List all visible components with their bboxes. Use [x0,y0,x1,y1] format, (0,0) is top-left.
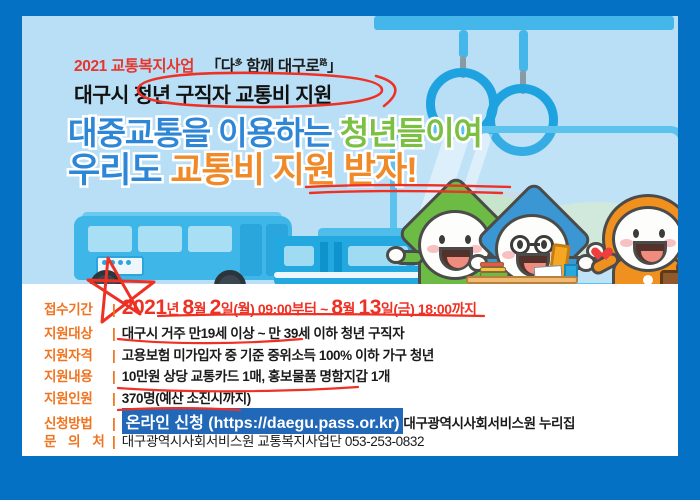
table-row: 지원내용 | 10만원 상당 교통카드 1매, 홍보물품 명함지갑 1개 [44,365,664,387]
slogan-mid: 함께 대구로 [242,58,319,75]
slogan-sup-2: 路 [319,58,327,67]
orange-mascot-head [612,206,678,272]
slogan-close: 」 [327,58,342,75]
train-door [320,242,328,276]
subtitle-line: 대구시 청년 구직자 교통비 지원 [74,78,332,108]
info-table: 접수기간 | 2021년 8월 2일(월) 09:00부터 ~ 8월 13일(금… [44,296,664,451]
row-label: 지원내용 [44,365,110,385]
table-row: 지원자격 | 고용보험 미가입자 중 기준 중위소득 100% 이하 가구 청년 [44,344,664,366]
headline-line-1: 대중교통을 이용하는 청년들이여 [68,116,538,150]
bus-window [138,226,182,252]
strap-rod [519,30,528,72]
table-row: 신청방법 | 온라인 신청 (https://daegu.pass.or.kr)… [44,408,664,430]
row-label: 문 의 처 [44,430,110,450]
program-year: 2021 교통복지사업 [74,58,194,75]
row-value: 대구광역시사회서비스원 교통복지사업단 053-253-0832 [122,430,424,450]
program-title-line: 2021 교통복지사업 「다多 함께 대구로路」 [74,54,342,76]
row-value: 370명(예산 소진시까지) [122,387,251,407]
heart-icon [598,248,612,262]
row-value: 고용보험 미가입자 중 기준 중위소득 100% 이하 가구 청년 [122,344,434,364]
train-door [334,242,342,276]
headline-line2-orange: 교통비 지원 받자! [170,151,417,190]
bus-window [88,226,132,252]
row-divider: | [112,348,116,363]
subtitle-prefix: 대구시 [74,84,134,107]
row-label: 접수기간 [44,298,110,318]
headline-line2-blue: 우리도 [68,151,170,190]
table-row: 접수기간 | 2021년 8월 2일(월) 09:00부터 ~ 8월 13일(금… [44,296,664,322]
main-headline: 대중교통을 이용하는 청년들이여 우리도 교통비 지원 받자! [68,116,538,190]
headline-line1-green: 청년들이여 [340,115,482,151]
row-label: 지원인원 [44,387,110,407]
table-row: 지원대상 | 대구시 거주 만19세 이상 ~ 만 39세 이하 청년 구직자 [44,322,664,344]
train-window [284,246,314,266]
row-divider: | [112,326,116,341]
bottom-blue-strip [0,456,700,500]
slogan-open: 「다 [206,58,235,75]
bus-door [240,224,262,276]
strap-rod [459,30,468,58]
row-label: 지원대상 [44,322,110,342]
green-mascot-hand [386,246,406,264]
table-row: 지원인원 | 370명(예산 소진시까지) [44,387,664,409]
row-value: 대구시 거주 만19세 이상 ~ 만 39세 이하 청년 구직자 [122,322,404,342]
poster-root: 2021 교통복지사업 「다多 함께 대구로路」 대구시 청년 구직자 교통비 … [0,0,700,500]
row-divider: | [112,369,116,384]
row-divider: | [112,391,116,406]
row-divider: | [112,416,116,431]
table-row: 문 의 처 | 대구광역시사회서비스원 교통복지사업단 053-253-0832 [44,430,664,452]
row-label: 지원자격 [44,344,110,364]
headline-line1-blue: 대중교통을 이용하는 [68,115,340,151]
row-value-suffix: 대구광역시사회서비스원 누리집 [403,412,575,432]
row-value: 2021년 8월 2일(월) 09:00부터 ~ 8월 13일(금) 18:00… [122,296,477,320]
row-divider: | [112,302,116,317]
row-divider: | [112,434,116,449]
subtitle-circled-text: 청년 구직자 교통비 지원 [134,84,332,107]
headline-line-2: 우리도 교통비 지원 받자! [68,152,538,190]
subway-ceiling-bar [374,16,674,30]
bus-window [188,226,232,252]
bus-illustration [74,212,304,290]
row-value: 10만원 상당 교통카드 1매, 홍보물품 명함지갑 1개 [122,365,390,385]
